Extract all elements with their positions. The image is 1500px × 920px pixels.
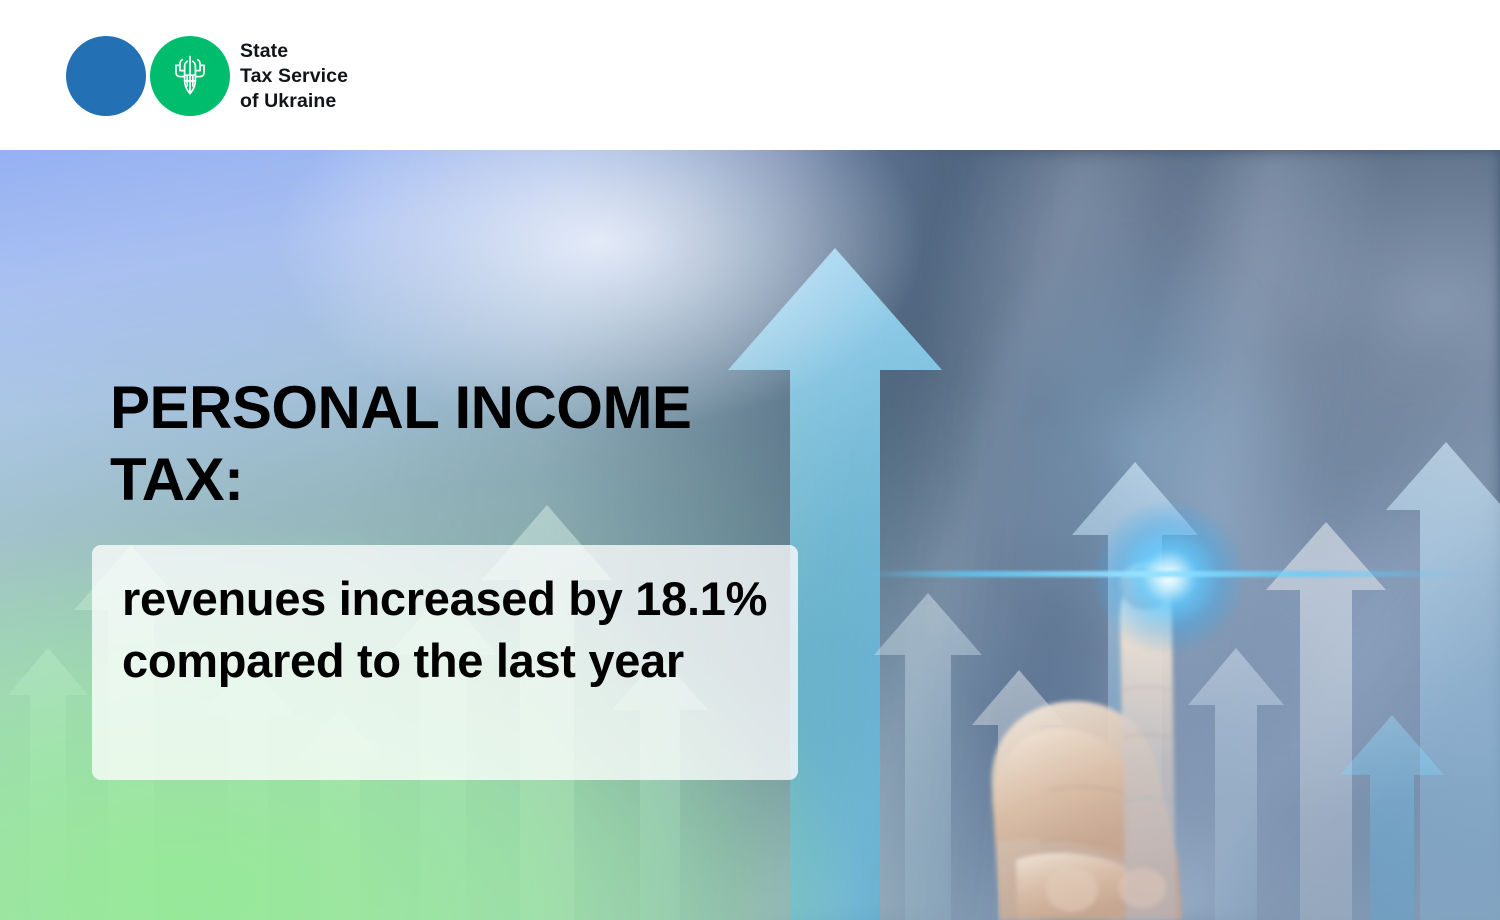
logo-marks bbox=[66, 36, 234, 116]
poster-canvas: State Tax Service of Ukraine bbox=[0, 0, 1500, 920]
callout-message: revenues increased by 18.1% compared to … bbox=[122, 568, 802, 692]
green-circle-icon bbox=[150, 36, 230, 116]
organization-name: State Tax Service of Ukraine bbox=[240, 39, 348, 114]
hero-banner bbox=[0, 150, 1500, 920]
ukraine-trident-emblem-icon bbox=[171, 53, 209, 99]
organization-name-line-2: Tax Service bbox=[240, 64, 348, 89]
organization-logo: State Tax Service of Ukraine bbox=[66, 36, 348, 116]
page-title: PERSONAL INCOME TAX: bbox=[110, 372, 810, 516]
organization-name-line-1: State bbox=[240, 39, 348, 64]
organization-name-line-3: of Ukraine bbox=[240, 89, 348, 114]
page-header: State Tax Service of Ukraine bbox=[0, 0, 1500, 150]
blue-circle-icon bbox=[66, 36, 146, 116]
background-white-bloom bbox=[0, 150, 1500, 920]
